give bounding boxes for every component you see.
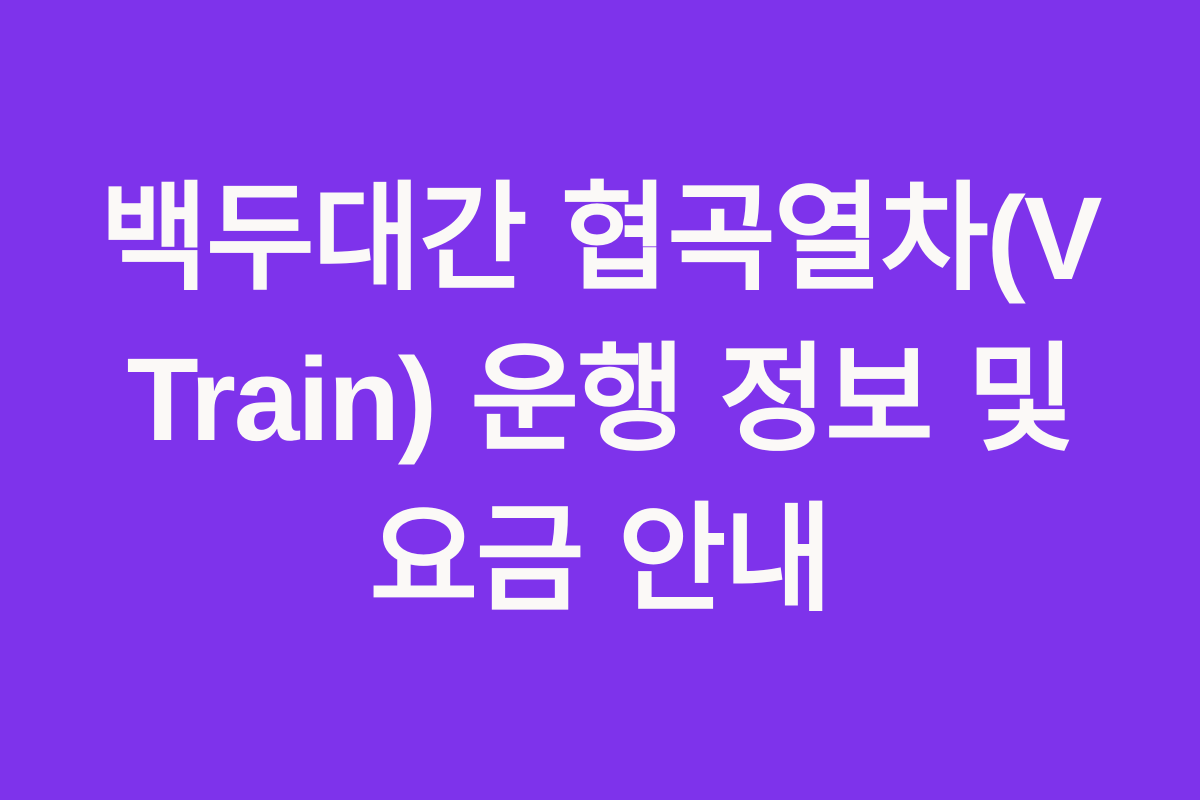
title-banner: 백두대간 협곡열차(V Train) 운행 정보 및 요금 안내 xyxy=(0,0,1200,800)
headline-container: 백두대간 협곡열차(V Train) 운행 정보 및 요금 안내 xyxy=(75,159,1125,640)
page-title: 백두대간 협곡열차(V Train) 운행 정보 및 요금 안내 xyxy=(75,159,1125,640)
